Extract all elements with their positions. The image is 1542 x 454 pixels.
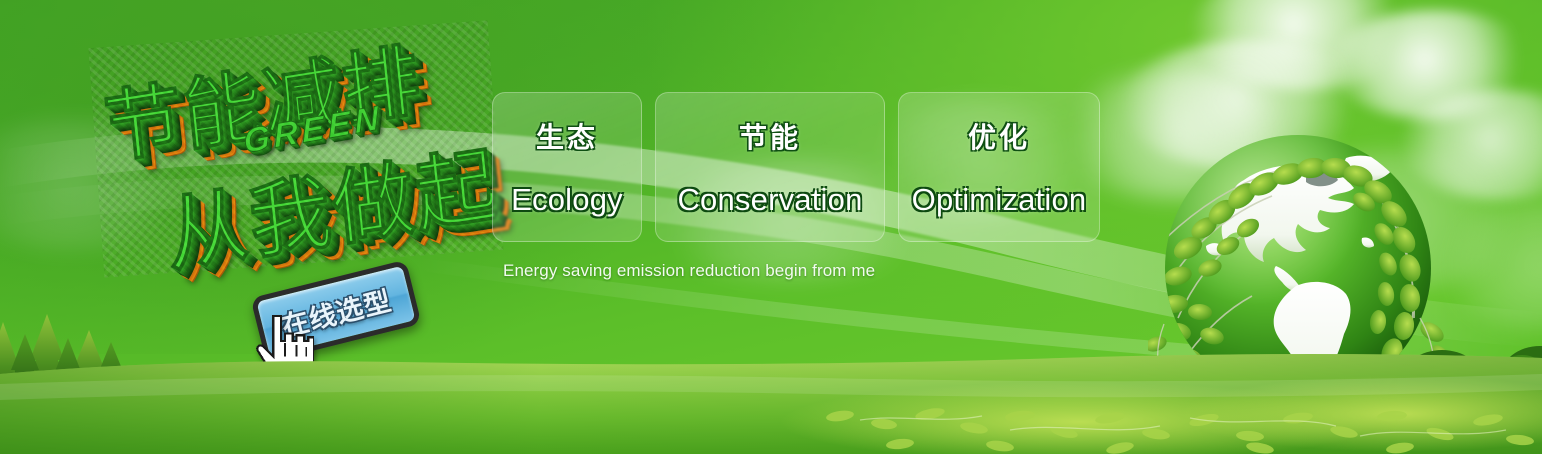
feature-card-title-en: Ecology: [511, 182, 623, 218]
conifer-tree-icon: [0, 308, 194, 426]
pointing-hand-cursor-icon: [252, 310, 314, 380]
eco-banner: 节能减排 GREEN 从我做起 在线选型 生态 Ecology 节能 Con: [0, 0, 1542, 454]
bush-icon: [1372, 334, 1542, 408]
feature-card-title-cn: 优化: [968, 116, 1030, 156]
feature-card-title-en: Optimization: [912, 182, 1087, 218]
feature-card-title-cn: 节能: [739, 116, 801, 156]
headline-3d: 节能减排 GREEN 从我做起: [88, 20, 503, 277]
feature-card-conservation[interactable]: 节能 Conservation: [655, 92, 885, 242]
feature-card-title-cn: 生态: [536, 116, 598, 156]
feature-card-ecology[interactable]: 生态 Ecology: [492, 92, 642, 242]
feature-card-optimization[interactable]: 优化 Optimization: [898, 92, 1100, 242]
feature-card-title-en: Conservation: [677, 182, 862, 218]
feature-card-list: 生态 Ecology 节能 Conservation 优化 Optimizati…: [492, 92, 1100, 242]
online-selection-cta[interactable]: 在线选型: [252, 272, 432, 368]
banner-tagline: Energy saving emission reduction begin f…: [503, 261, 875, 281]
